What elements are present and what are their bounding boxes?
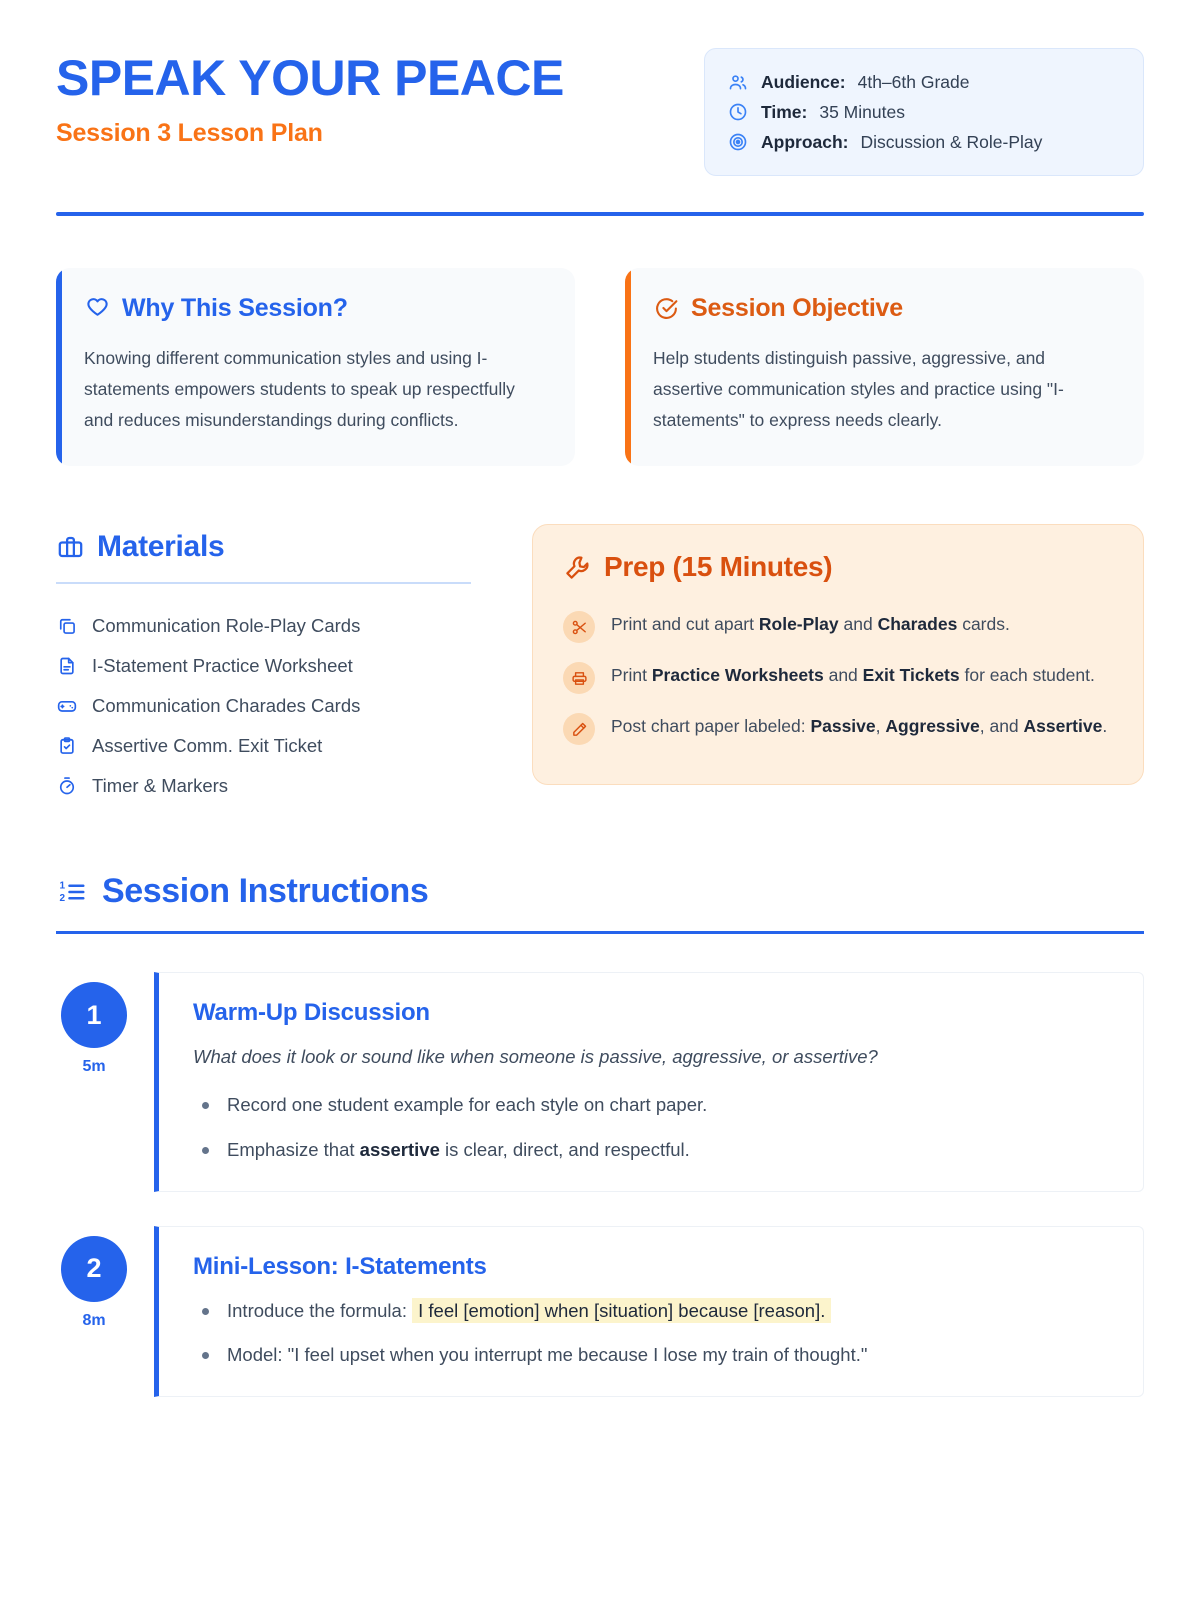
prep-text: Print Practice Worksheets and Exit Ticke… (611, 661, 1095, 689)
step-1: 1 5m Warm-Up Discussion What does it loo… (56, 972, 1144, 1191)
clipboard-check-icon (56, 735, 78, 757)
info-value-approach: Discussion & Role-Play (861, 132, 1043, 153)
callout-body: Help students distinguish passive, aggre… (653, 343, 1116, 436)
clock-icon (727, 101, 749, 123)
prep-panel: Prep (15 Minutes) Print and cut apart Ro… (532, 524, 1144, 785)
material-item-practice-worksheet: I-Statement Practice Worksheet (56, 646, 486, 686)
ordered-list-icon: 1 2 (56, 876, 88, 908)
callout-session-objective: Session Objective Help students distingu… (625, 268, 1144, 466)
callout-body: Knowing different communication styles a… (84, 343, 547, 436)
material-label: Communication Role-Play Cards (92, 615, 360, 637)
target-icon (727, 131, 749, 153)
prep-item-print-worksheets: Print Practice Worksheets and Exit Ticke… (563, 652, 1113, 703)
document-icon (56, 655, 78, 677)
svg-text:2: 2 (60, 893, 66, 904)
instructions-title: Session Instructions (102, 872, 428, 911)
materials-prep-row: Materials Communication Role-Play Cards … (56, 524, 1144, 806)
instructions-header: 1 2 Session Instructions (56, 872, 1144, 911)
steps-list: 1 5m Warm-Up Discussion What does it loo… (56, 972, 1144, 1396)
pencil-icon (563, 713, 595, 745)
step-number-column: 1 5m (56, 972, 132, 1076)
material-item-charades-cards: Communication Charades Cards (56, 686, 486, 726)
step-bullet: Emphasize that assertive is clear, direc… (193, 1136, 1113, 1165)
printer-icon (563, 662, 595, 694)
step-prompt: What does it look or sound like when som… (193, 1043, 1113, 1071)
material-item-role-play-cards: Communication Role-Play Cards (56, 606, 486, 646)
material-label: Timer & Markers (92, 775, 228, 797)
materials-header: Materials (56, 530, 486, 564)
info-label-time: Time: (761, 102, 807, 123)
step-body: Mini-Lesson: I-Statements Introduce the … (154, 1226, 1144, 1397)
header-divider (56, 212, 1144, 216)
material-label: Assertive Comm. Exit Ticket (92, 735, 322, 757)
info-row-approach: Approach: Discussion & Role-Play (727, 127, 1117, 157)
wrench-icon (563, 553, 591, 581)
info-row-time: Time: 35 Minutes (727, 97, 1117, 127)
step-bullet: Introduce the formula: I feel [emotion] … (193, 1297, 1113, 1326)
lesson-plan-page: SPEAK YOUR PEACE Session 3 Lesson Plan A… (0, 0, 1200, 1600)
info-label-audience: Audience: (761, 72, 846, 93)
step-duration: 5m (82, 1058, 105, 1076)
info-value-audience: 4th–6th Grade (858, 72, 970, 93)
step-bullet: Record one student example for each styl… (193, 1091, 1113, 1120)
prep-header: Prep (15 Minutes) (563, 551, 1113, 583)
material-label: I-Statement Practice Worksheet (92, 655, 353, 677)
prep-title: Prep (15 Minutes) (604, 551, 832, 583)
page-title: SPEAK YOUR PEACE (56, 52, 564, 105)
materials-divider (56, 582, 471, 584)
info-label-approach: Approach: (761, 132, 849, 153)
step-title: Warm-Up Discussion (193, 999, 1113, 1027)
page-subtitle: Session 3 Lesson Plan (56, 119, 564, 148)
timer-icon (56, 775, 78, 797)
scissors-icon (563, 611, 595, 643)
prep-text: Print and cut apart Role-Play and Charad… (611, 610, 1010, 638)
step-2: 2 8m Mini-Lesson: I-Statements Introduce… (56, 1226, 1144, 1397)
check-circle-icon (653, 296, 679, 322)
step-number-badge: 1 (61, 982, 127, 1048)
callout-header: Why This Session? (84, 294, 547, 323)
step-duration: 8m (82, 1312, 105, 1330)
gamepad-icon (56, 695, 78, 717)
callout-title: Why This Session? (122, 294, 348, 323)
callout-title: Session Objective (691, 294, 903, 323)
info-row-audience: Audience: 4th–6th Grade (727, 67, 1117, 97)
svg-text:1: 1 (60, 880, 66, 891)
users-icon (727, 71, 749, 93)
session-info-card: Audience: 4th–6th Grade Time: 35 Minutes (704, 48, 1144, 176)
callout-why-this-session: Why This Session? Knowing different comm… (56, 268, 575, 466)
materials-section: Materials Communication Role-Play Cards … (56, 524, 486, 806)
materials-title: Materials (97, 530, 224, 564)
step-body: Warm-Up Discussion What does it look or … (154, 972, 1144, 1191)
callout-row: Why This Session? Knowing different comm… (56, 268, 1144, 466)
info-value-time: 35 Minutes (819, 102, 905, 123)
step-number-column: 2 8m (56, 1226, 132, 1330)
instructions-section: 1 2 Session Instructions 1 5m Warm-Up Di… (56, 872, 1144, 1396)
toolbox-icon (56, 533, 84, 561)
step-title: Mini-Lesson: I-Statements (193, 1253, 1113, 1281)
prep-text: Post chart paper labeled: Passive, Aggre… (611, 712, 1107, 740)
material-item-exit-ticket: Assertive Comm. Exit Ticket (56, 726, 486, 766)
title-block: SPEAK YOUR PEACE Session 3 Lesson Plan (56, 48, 564, 148)
step-bullets: Introduce the formula: I feel [emotion] … (193, 1297, 1113, 1370)
step-bullets: Record one student example for each styl… (193, 1091, 1113, 1164)
prep-item-cut-cards: Print and cut apart Role-Play and Charad… (563, 601, 1113, 652)
material-item-timer-markers: Timer & Markers (56, 766, 486, 806)
step-bullet: Model: "I feel upset when you interrupt … (193, 1341, 1113, 1370)
page-header: SPEAK YOUR PEACE Session 3 Lesson Plan A… (56, 48, 1144, 176)
step-number-badge: 2 (61, 1236, 127, 1302)
prep-item-chart-paper: Post chart paper labeled: Passive, Aggre… (563, 703, 1113, 754)
heart-icon (84, 296, 110, 322)
callout-header: Session Objective (653, 294, 1116, 323)
instructions-divider (56, 931, 1144, 934)
material-label: Communication Charades Cards (92, 695, 360, 717)
copy-icon (56, 615, 78, 637)
